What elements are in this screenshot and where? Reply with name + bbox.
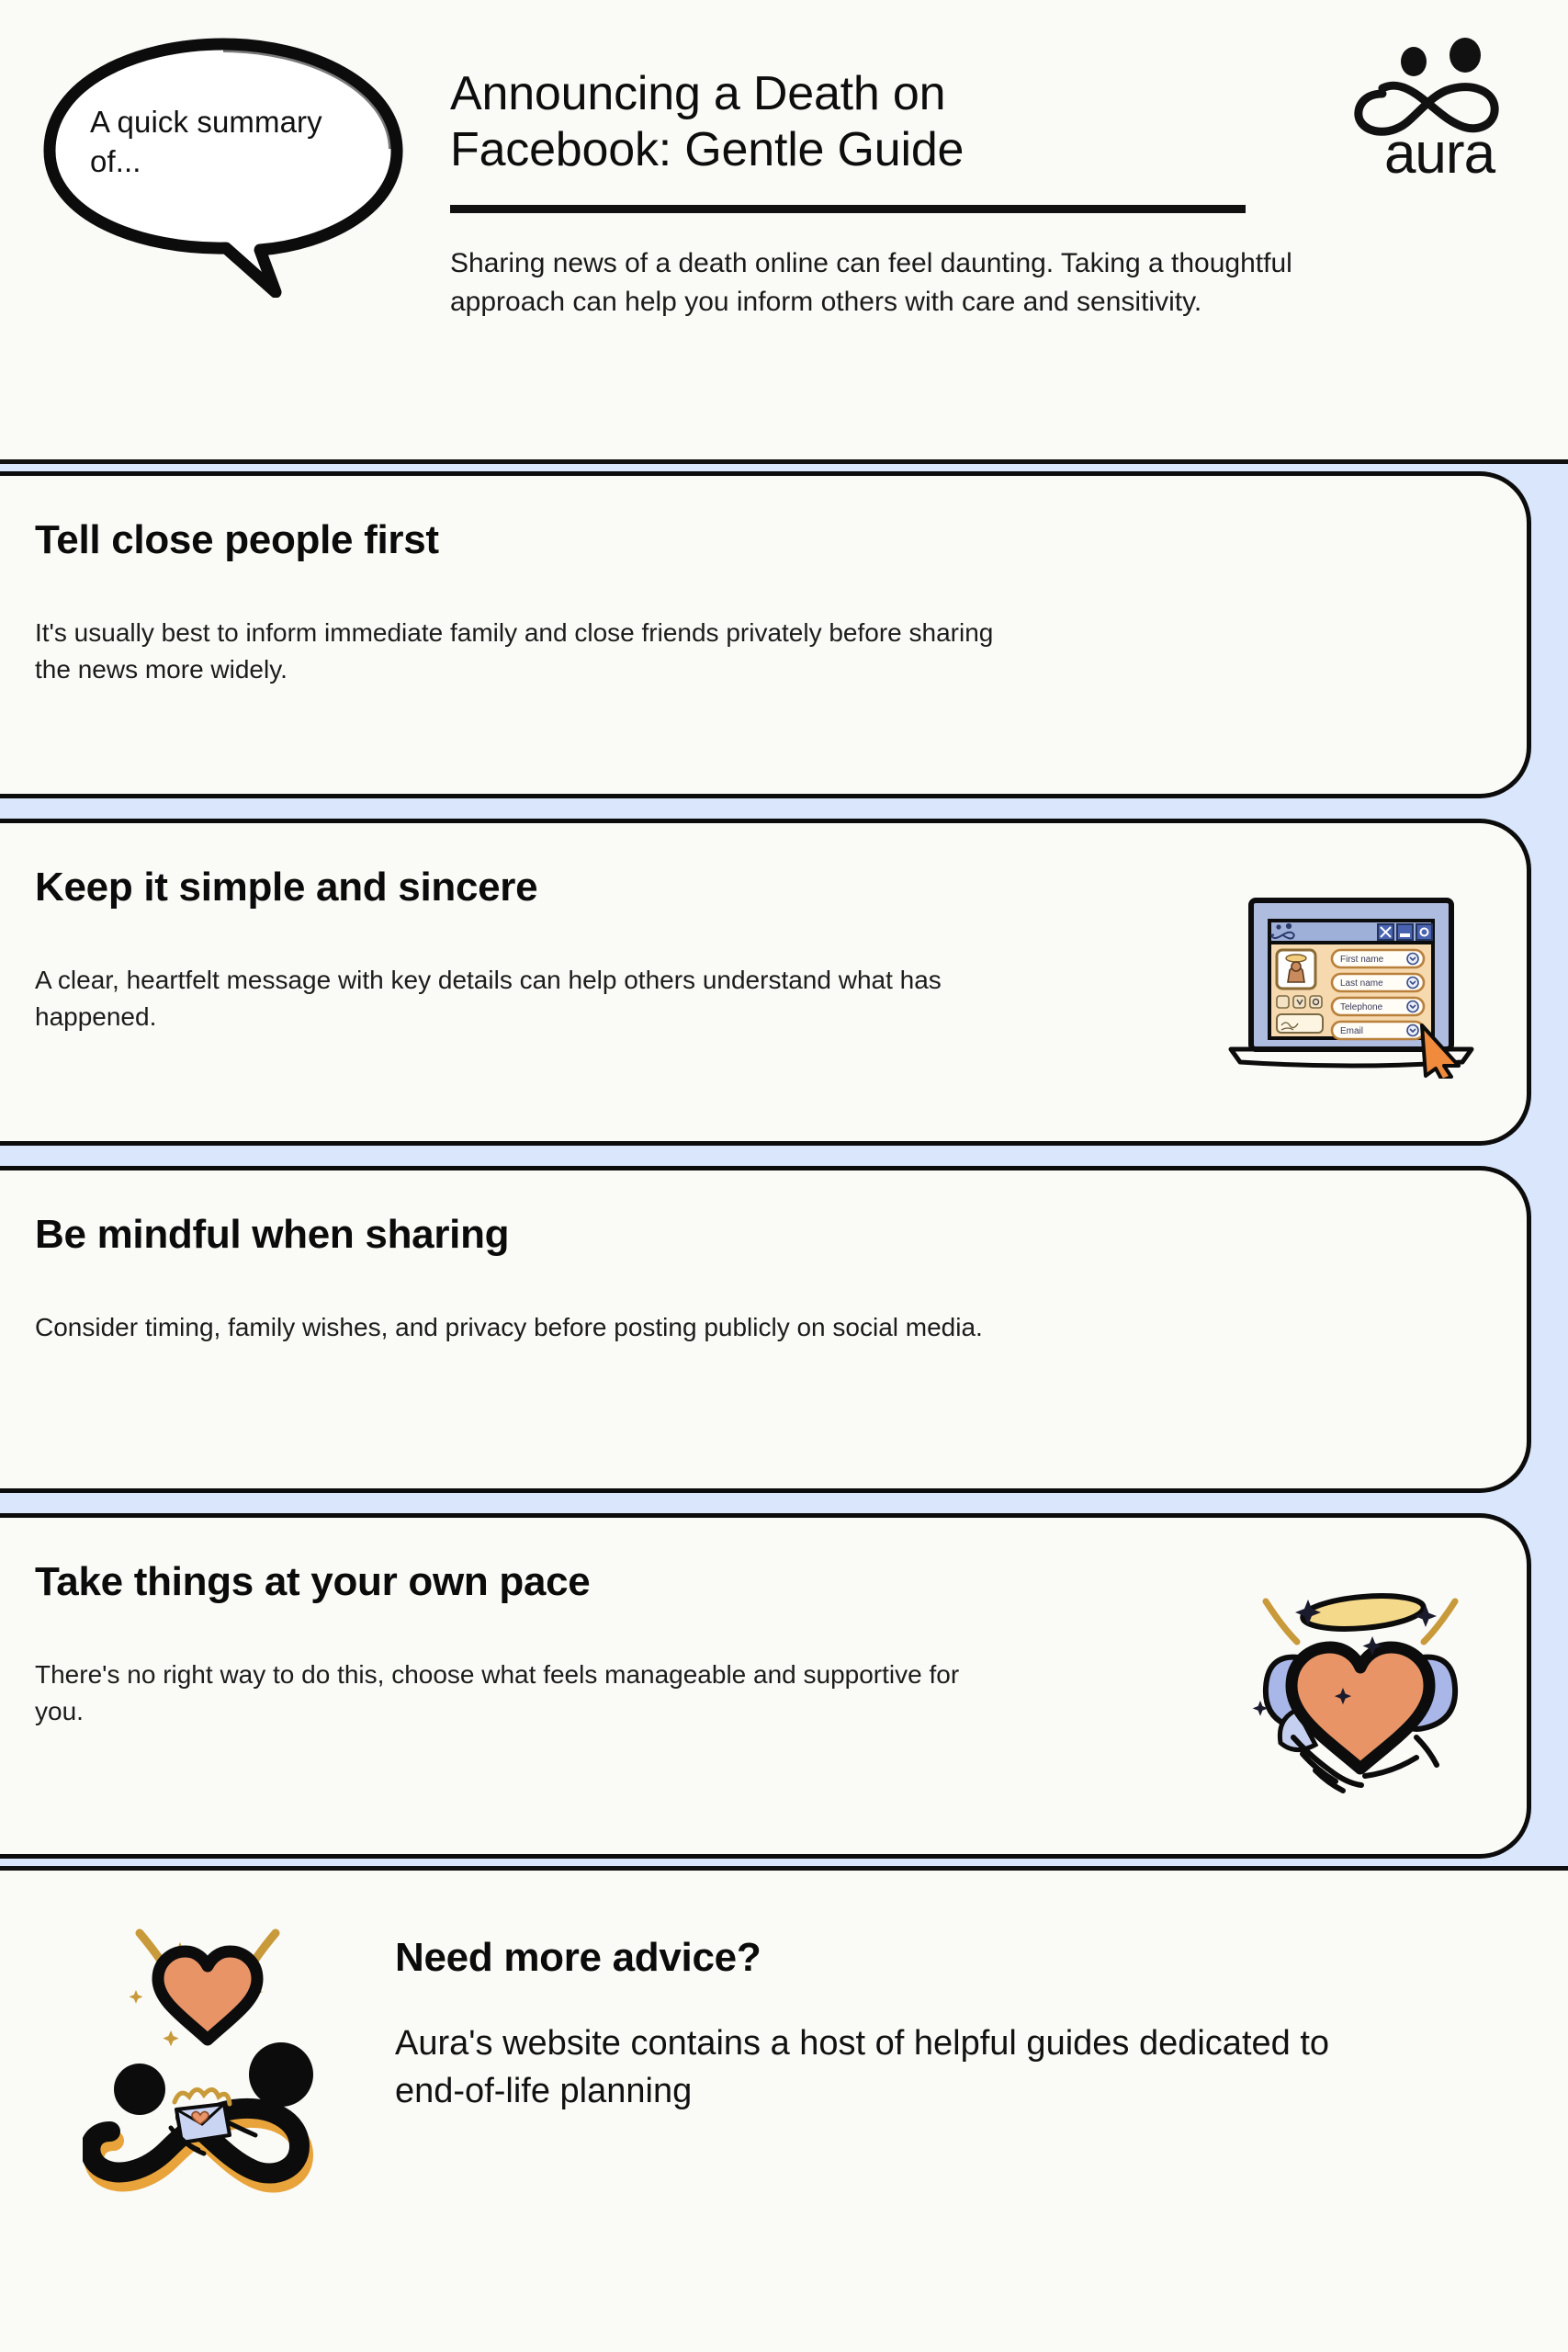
header: A quick summary of... Announcing a Death… <box>0 0 1568 459</box>
footer: Need more advice? Aura's website contain… <box>0 1871 1568 2227</box>
header-text-block: Announcing a Death on Facebook: Gentle G… <box>450 66 1258 322</box>
field-email: Email <box>1332 1022 1424 1039</box>
card-title: Keep it simple and sincere <box>35 864 1119 912</box>
title-divider <box>450 205 1246 213</box>
page-subtitle: Sharing news of a death online can feel … <box>450 244 1314 322</box>
head-left <box>114 2064 165 2115</box>
field-first-name: First name <box>1332 950 1424 967</box>
aura-wordmark: aura <box>1384 122 1496 184</box>
svg-text:First name: First name <box>1340 955 1384 965</box>
chevron-down-icon <box>1407 1025 1418 1036</box>
laptop-form-illustration: First name Last name Telephone <box>1218 886 1484 1079</box>
heart-infinity-icon <box>83 1894 349 2207</box>
speech-bubble: A quick summary of... <box>35 31 412 298</box>
card-body: It's usually best to inform immediate fa… <box>35 615 1009 689</box>
card-title: Be mindful when sharing <box>35 1211 1119 1260</box>
heart <box>1292 1647 1429 1769</box>
head-right <box>249 2042 313 2107</box>
page-title: Announcing a Death on Facebook: Gentle G… <box>450 66 1258 179</box>
maximize-icon <box>1416 924 1432 940</box>
card-keep-it-simple-and-sincere: Keep it simple and sincere A clear, hear… <box>0 819 1531 1146</box>
card-body: A clear, heartfelt message with key deta… <box>35 962 1009 1036</box>
angel-heart-icon <box>1236 1548 1484 1824</box>
chevron-down-icon <box>1407 978 1418 989</box>
cards-band: Tell close people first It's usually bes… <box>0 459 1568 1871</box>
footer-title: Need more advice? <box>395 1935 1369 1981</box>
footer-heart <box>158 1951 257 2040</box>
angel-heart-illustration <box>1236 1548 1484 1824</box>
window-controls <box>1378 924 1432 940</box>
field-telephone: Telephone <box>1332 998 1424 1015</box>
card-body: There's no right way to do this, choose … <box>35 1657 1009 1731</box>
footer-illustration <box>83 1894 349 2207</box>
page-title-line2: Facebook: Gentle Guide <box>450 122 1258 178</box>
card-be-mindful-when-sharing: Be mindful when sharing Consider timing,… <box>0 1166 1531 1493</box>
field-last-name: Last name <box>1332 974 1424 991</box>
card-body: Consider timing, family wishes, and priv… <box>35 1309 1009 1346</box>
svg-text:Email: Email <box>1340 1026 1363 1036</box>
card-tell-close-people-first: Tell close people first It's usually bes… <box>0 471 1531 798</box>
speech-bubble-text: A quick summary of... <box>90 103 366 182</box>
laptop-icon: First name Last name Telephone <box>1218 886 1484 1079</box>
card-take-things-at-your-own-pace: Take things at your own pace There's no … <box>0 1513 1531 1859</box>
card-title: Take things at your own pace <box>35 1558 1119 1607</box>
svg-text:Last name: Last name <box>1340 978 1383 989</box>
chevron-down-icon <box>1407 954 1418 965</box>
page-title-line1: Announcing a Death on <box>450 66 1258 122</box>
footer-body: Aura's website contains a host of helpfu… <box>395 2019 1369 2116</box>
chevron-down-icon <box>1407 1001 1418 1012</box>
minimize-icon <box>1397 924 1413 940</box>
aura-logo: aura <box>1348 37 1531 184</box>
icon-row <box>1277 996 1322 1008</box>
card-title: Tell close people first <box>35 516 1119 565</box>
infographic-page: A quick summary of... Announcing a Death… <box>0 0 1568 2352</box>
svg-text:Telephone: Telephone <box>1340 1002 1383 1012</box>
footer-text-block: Need more advice? Aura's website contain… <box>395 1894 1369 2116</box>
aura-infinity-logo-icon: aura <box>1348 37 1531 184</box>
